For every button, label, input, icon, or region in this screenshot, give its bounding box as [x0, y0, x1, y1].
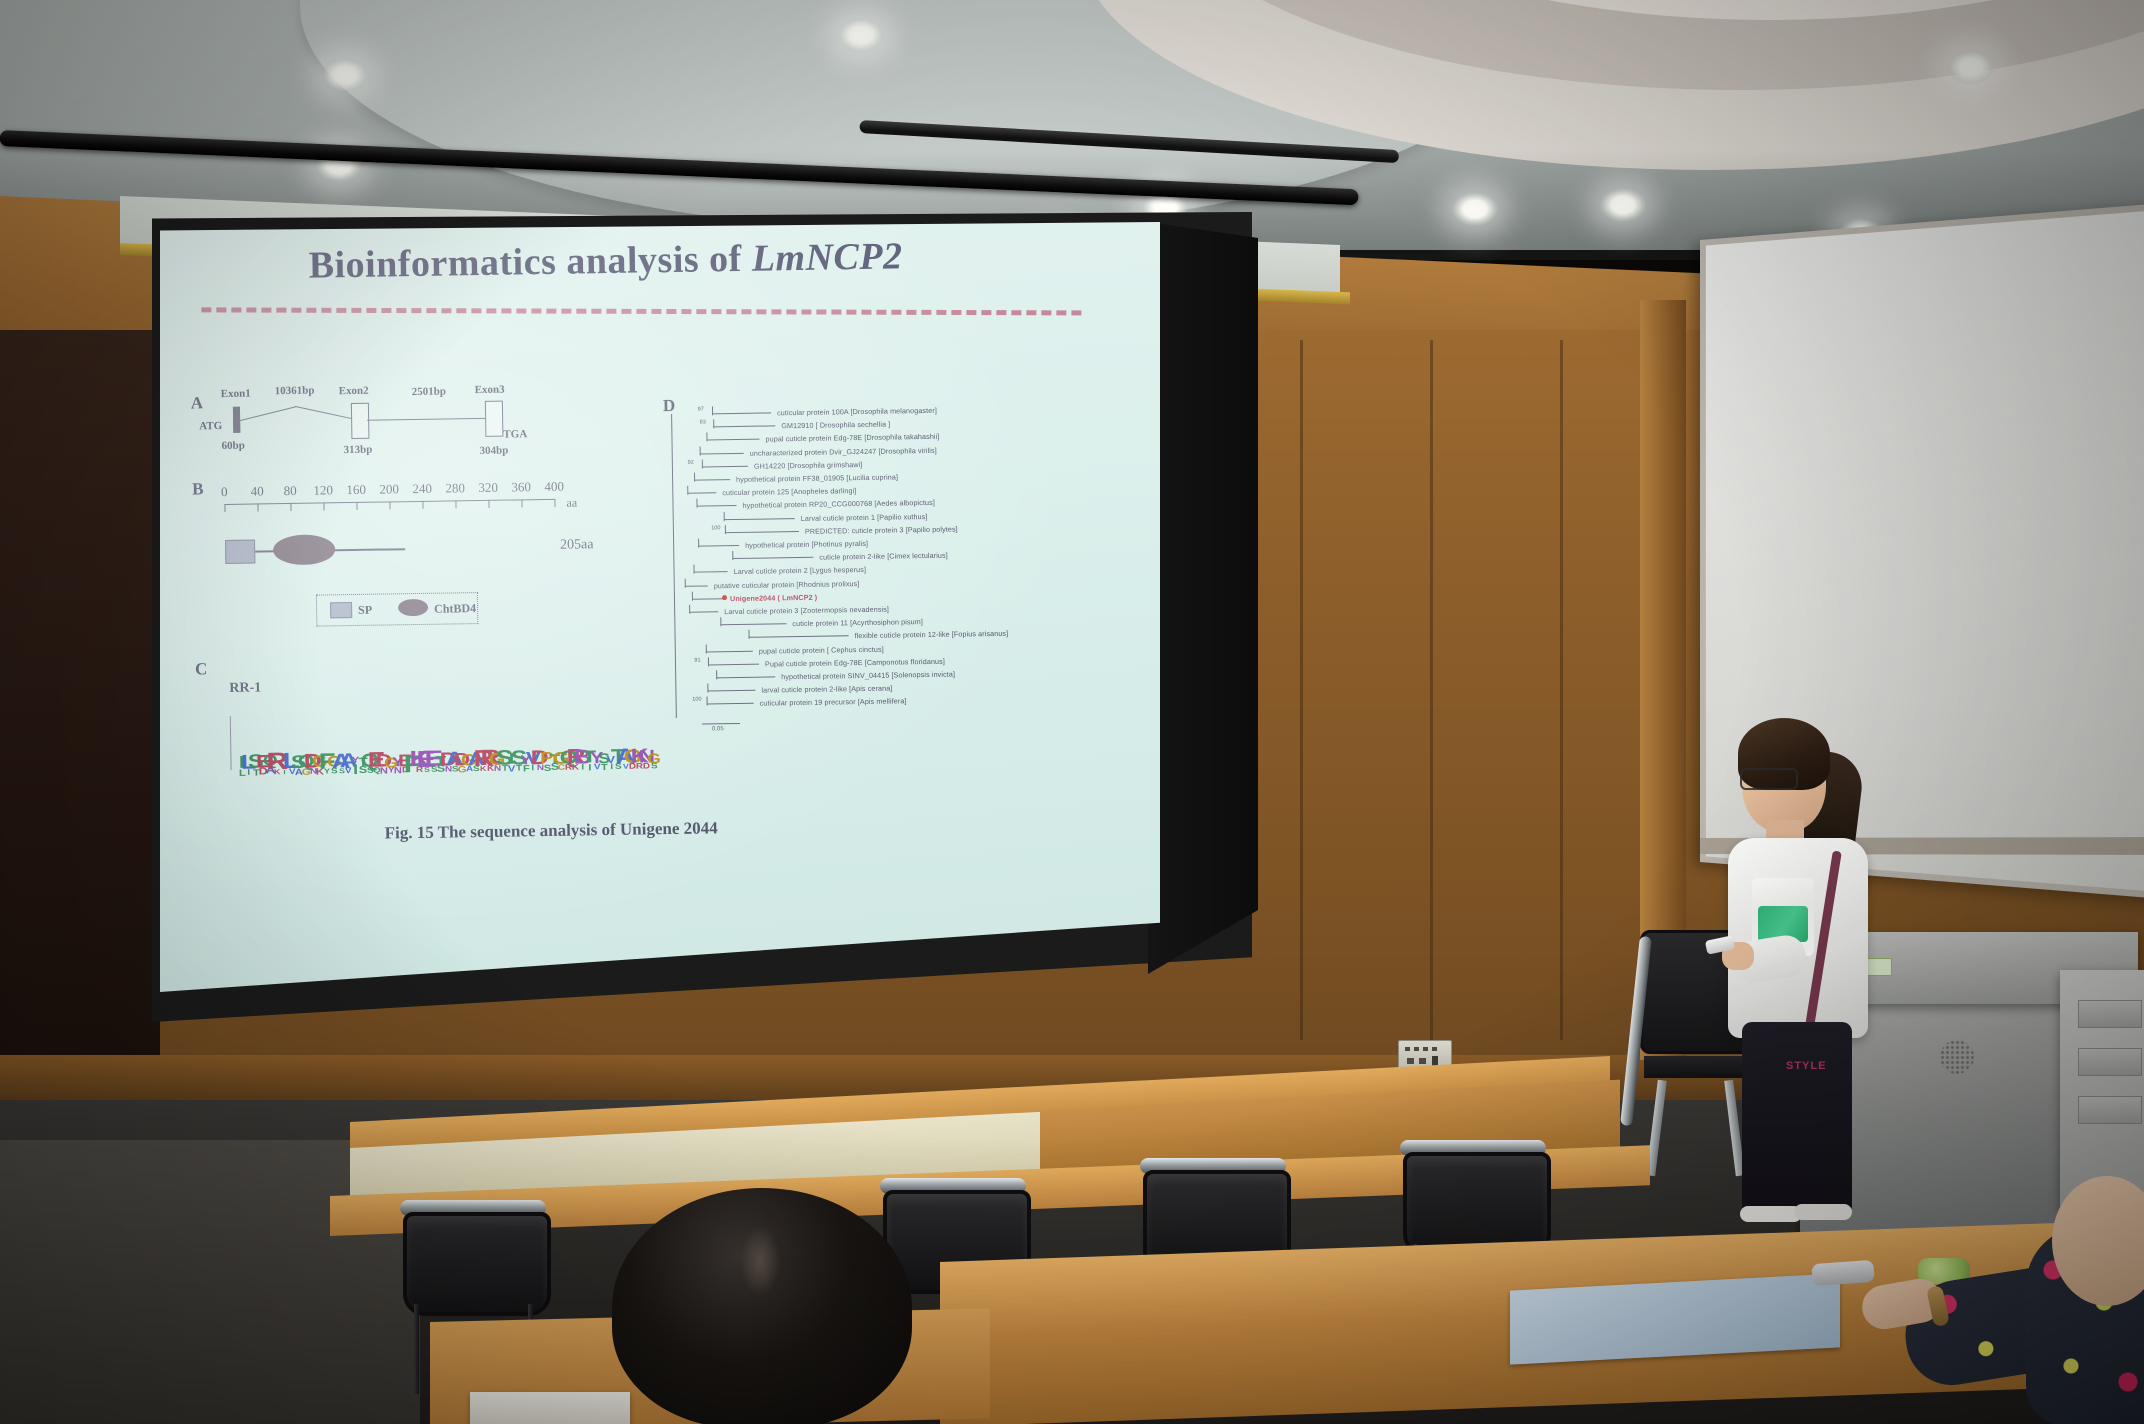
wall-seam — [1430, 340, 1433, 1040]
lecture-hall-photo: TCAS Bioinformatics analysis of LmNCP2 A… — [0, 0, 2144, 1424]
left-dark-wall — [0, 330, 160, 1130]
axis-tick — [323, 502, 324, 510]
chair-backrest — [403, 1212, 551, 1316]
tree-branch-vertical — [688, 486, 689, 495]
axis-tick-label: 120 — [313, 482, 333, 498]
tree-branch-vertical — [693, 565, 694, 574]
tree-branch — [705, 650, 752, 652]
tree-branch — [702, 466, 748, 468]
tree-branch — [685, 585, 708, 586]
exon2-box — [351, 403, 370, 439]
chair-backrest — [1403, 1152, 1551, 1256]
screen-dark-border-right — [1148, 222, 1258, 1022]
axis-tick — [488, 500, 489, 508]
tree-leaf-label: hypothetical protein [Photinus pyralis] — [745, 539, 868, 550]
axis-tick — [389, 501, 390, 509]
tree-branch — [690, 611, 719, 612]
ceiling-light-icon — [1600, 188, 1646, 222]
logo-letter: S — [651, 764, 658, 770]
pants-print: STYLE — [1786, 1060, 1834, 1078]
intron1-line — [237, 406, 295, 421]
tree-branch-vertical — [725, 525, 726, 534]
tree-branch — [725, 531, 799, 533]
exon2-label: Exon2 — [339, 385, 369, 397]
protein-length-label: 205aa — [560, 537, 594, 554]
tree-bootstrap-value: 83 — [700, 420, 706, 426]
tree-branch — [708, 663, 759, 665]
tree-leaf-label: hypothetical protein RP20_CCG000768 [Aed… — [742, 498, 935, 510]
axis-tick-label: 0 — [221, 484, 228, 500]
tree-branch-vertical — [723, 512, 724, 521]
legend-chtbd4-label: ChtBD4 — [434, 601, 476, 617]
intron2-line — [367, 418, 485, 421]
panel-letter-c: C — [195, 659, 208, 679]
legend-sp-swatch — [330, 602, 352, 618]
panel-letter-a: A — [191, 393, 204, 413]
start-codon-label: ATG — [199, 420, 222, 432]
tree-branch-vertical — [705, 644, 706, 653]
panel-letter-b: B — [192, 479, 204, 499]
tree-bootstrap-value: 100 — [692, 697, 701, 703]
exon3-size: 304bp — [480, 445, 509, 457]
tree-leaf-label: larval cuticle protein 2-like [Apis cera… — [761, 684, 892, 695]
axis-tick — [455, 500, 456, 508]
seated-attendee — [612, 1188, 932, 1424]
tree-bootstrap-value: 97 — [698, 406, 704, 412]
axis-tick-label: 360 — [511, 479, 531, 495]
tree-bootstrap-value: 100 — [711, 525, 720, 531]
tree-branch — [748, 636, 848, 639]
logo-column: GS — [648, 753, 659, 769]
tree-leaf-label: hypothetical protein FF38_01905 [Lucilia… — [736, 472, 898, 484]
tree-leaf-label: pupal cuticle protein Edg-78E [Drosophil… — [765, 432, 939, 444]
drawer[interactable] — [2078, 1096, 2142, 1124]
tree-branch-vertical — [694, 473, 695, 482]
legend-sp-label: SP — [358, 603, 372, 618]
tree-branch — [716, 676, 775, 678]
axis-unit-label: aa — [566, 495, 577, 510]
tree-highlight-dot — [722, 595, 727, 600]
projection-screen: Bioinformatics analysis of LmNCP2 A Exon… — [160, 222, 1160, 992]
chtbd4-domain — [273, 534, 335, 565]
tree-branch-vertical — [732, 551, 733, 560]
tree-leaf-label: cuticle protein 2-like [Cimex lectulariu… — [819, 551, 948, 562]
sequence-logo: ILLISTEDQARKILVSAQGDNGKFYGSASAVYITSQSEQD… — [230, 709, 651, 776]
tree-branch — [714, 426, 776, 428]
axis-tick — [554, 499, 555, 507]
tree-branch-vertical — [720, 617, 721, 626]
presenter-shoe — [1794, 1204, 1852, 1220]
tree-leaf-label: Unigene2044 ( LmNCP2 ) — [730, 593, 817, 603]
exon2-size: 313bp — [344, 444, 373, 456]
tree-branch-vertical — [702, 459, 703, 468]
glasses-icon — [1740, 768, 1798, 790]
axis-tick-label: 400 — [544, 479, 564, 495]
tree-branch-vertical — [697, 499, 698, 508]
tree-leaf-label: pupal cuticle protein [ Cephus cinctus] — [759, 644, 884, 655]
tree-leaf-label: GH14220 [Drosophila grimshawi] — [754, 460, 863, 471]
tree-branch — [688, 492, 717, 493]
tree-leaf-label: hypothetical protein SINV_04415 [Solenop… — [781, 670, 955, 682]
exon3-box — [485, 401, 504, 437]
axis-tick — [257, 503, 258, 511]
tree-branch-vertical — [707, 684, 708, 693]
drawer[interactable] — [2078, 1048, 2142, 1076]
wall-seam — [1560, 340, 1563, 1040]
tree-spine — [671, 414, 677, 718]
tree-branch-vertical — [689, 605, 690, 614]
tree-branch-vertical — [716, 670, 717, 679]
axis-tick-label: 40 — [251, 483, 264, 499]
paper-sheet-left[interactable] — [470, 1392, 630, 1424]
attendee-head — [612, 1188, 912, 1424]
tree-branch — [697, 505, 737, 507]
presenter-pants — [1742, 1022, 1852, 1212]
tree-branch-vertical — [700, 446, 701, 455]
tree-scale-bar — [702, 723, 740, 725]
drawer[interactable] — [2078, 1000, 2142, 1028]
chair-leg — [414, 1304, 419, 1394]
stop-codon-label: TGA — [503, 428, 527, 440]
tree-leaf-label: uncharacterized protein Dvir_GJ24247 [Dr… — [750, 445, 937, 457]
axis-tick-label: 200 — [379, 481, 399, 497]
tree-leaf-label: cuticular protein 100A [Drosophila melan… — [777, 406, 937, 418]
axis-tick-label: 280 — [445, 480, 465, 496]
presenter: STYLE — [1690, 710, 1950, 1270]
tree-leaf-label: putative cuticular protein [Rhodnius pro… — [714, 579, 860, 590]
tree-branch — [712, 412, 771, 414]
tree-leaf-label: GM12910 [ Drosophila sechellia ] — [781, 420, 890, 431]
tree-branch — [707, 439, 760, 441]
tree-leaf-label: cuticle protein 11 [Acyrthosiphon pisum] — [792, 617, 923, 628]
ceiling-light-icon — [838, 18, 884, 52]
axis-tick-label: 80 — [284, 483, 297, 499]
tree-branch — [720, 623, 786, 625]
tree-bootstrap-value: 92 — [688, 459, 694, 465]
axis-tick-label: 320 — [478, 480, 498, 496]
tree-leaf-label: cuticular protein 19 precursor [Apis mel… — [760, 697, 907, 708]
tree-branch — [698, 545, 739, 547]
tree-leaf-label: cuticular protein 125 [Anopheles darling… — [722, 486, 856, 497]
slide-content: Bioinformatics analysis of LmNCP2 A Exon… — [160, 222, 1160, 992]
tree-branch-vertical — [706, 697, 707, 706]
tree-branch — [692, 598, 724, 600]
tree-branch — [694, 479, 730, 481]
axis-tick — [290, 503, 291, 511]
tree-leaf-label: Larval cuticle protein 3 [Zootermopsis n… — [724, 605, 889, 617]
axis-tick — [422, 501, 423, 509]
slide-title-gene: LmNCP2 — [751, 235, 902, 279]
tree-leaf-label: flexible cuticle protein 12-like [Fopius… — [855, 629, 1009, 640]
exon3-label: Exon3 — [475, 384, 505, 396]
tree-branch-vertical — [698, 539, 699, 548]
axis-tick-label: 240 — [412, 481, 432, 497]
figure-caption: Fig. 15 The sequence analysis of Unigene… — [384, 818, 717, 843]
exon1-size: 60bp — [221, 440, 244, 452]
tree-branch — [700, 452, 744, 454]
tree-branch-vertical — [692, 591, 693, 600]
panel-letter-d: D — [663, 396, 676, 416]
tree-branch — [707, 690, 755, 692]
title-divider — [201, 307, 1081, 315]
axis-tick — [356, 502, 357, 510]
motif-name-label: RR-1 — [229, 680, 261, 696]
tree-leaf-label: PREDICTED: cuticle protein 3 [Papilio po… — [805, 524, 958, 535]
tree-leaf-label: Pupal cuticle protein Edg-78E [Camponotu… — [765, 657, 945, 669]
tree-branch-vertical — [712, 406, 713, 415]
tree-leaf-label: Larval cuticle protein 2 [Lygus hesperus… — [733, 565, 866, 576]
intron1-line-b — [295, 406, 352, 419]
axis-tick-label: 160 — [346, 482, 366, 498]
tree-bootstrap-value: 91 — [694, 657, 700, 663]
attendee-hair-part — [740, 1226, 780, 1296]
ceiling-light-icon — [1948, 50, 1994, 84]
logo-axis — [230, 716, 232, 770]
tree-branch-vertical — [685, 578, 686, 587]
axis-tick — [224, 504, 225, 512]
intron2-label: 2501bp — [412, 386, 446, 399]
tree-branch — [693, 572, 727, 574]
tree-branch — [706, 703, 753, 705]
tree-branch-vertical — [748, 630, 749, 639]
slide-title-main: Bioinformatics analysis of — [308, 238, 752, 287]
tree-branch-vertical — [708, 657, 709, 666]
tree-leaf-label: Larval cuticle protein 1 [Papilio xuthus… — [801, 512, 928, 523]
signal-peptide-box — [225, 540, 255, 564]
ceiling-light-icon — [1452, 192, 1498, 226]
exon1-label: Exon1 — [221, 388, 251, 400]
tree-branch-vertical — [707, 433, 708, 442]
tree-scale-label: 0.05 — [712, 726, 724, 732]
intron1-label: 10361bp — [275, 385, 315, 398]
wall-seam — [1300, 340, 1303, 1040]
slide-title: Bioinformatics analysis of LmNCP2 — [308, 234, 903, 287]
presenter-shoe — [1740, 1206, 1802, 1222]
ceiling-light-icon — [322, 58, 368, 92]
tree-branch-vertical — [714, 420, 715, 429]
tree-branch — [732, 557, 813, 559]
tree-branch — [723, 518, 795, 520]
axis-tick — [521, 499, 522, 507]
